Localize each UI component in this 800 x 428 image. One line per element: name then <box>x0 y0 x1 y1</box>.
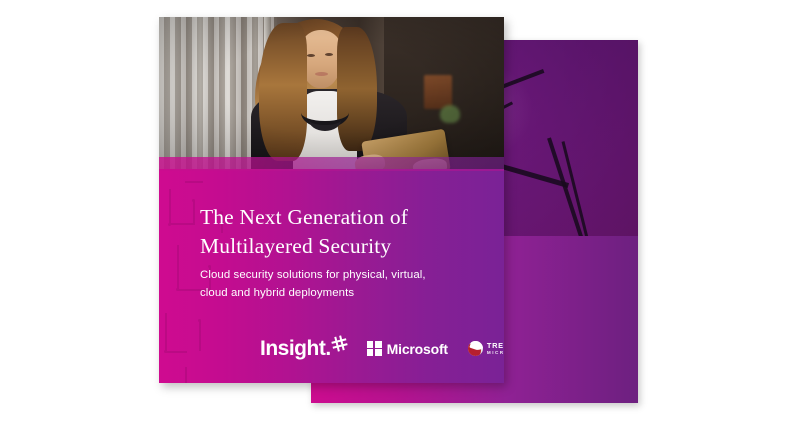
front-cover: The Next Generation of Multilayered Secu… <box>159 17 504 383</box>
trend-micro-line1: TREND <box>487 342 504 349</box>
trend-micro-wordmark: TREND MICRO <box>487 342 504 356</box>
trend-micro-logo: TREND MICRO <box>468 341 504 356</box>
cover-title-line2: Multilayered Security <box>200 234 391 258</box>
insight-hash-icon <box>330 334 348 352</box>
insight-logo-wordmark: Insight. <box>260 338 331 359</box>
insight-logo: Insight. <box>260 338 347 359</box>
microsoft-logo-wordmark: Microsoft <box>387 342 448 356</box>
trend-micro-swoosh-icon <box>468 341 483 356</box>
cover-title: The Next Generation of Multilayered Secu… <box>200 203 480 260</box>
cover-title-line1: The Next Generation of <box>200 205 408 229</box>
microsoft-squares-icon <box>367 341 382 356</box>
asset-canvas: ving. vulnerabilities will change. How c… <box>0 0 800 428</box>
cover-gradient-panel: The Next Generation of Multilayered Secu… <box>159 171 504 383</box>
cover-photo <box>159 17 504 169</box>
logo-row: Insight. Microsoft TREND MICRO <box>260 338 504 359</box>
photo-vignette <box>159 17 504 169</box>
trend-micro-line2: MICRO <box>487 351 504 356</box>
cover-subtitle: Cloud security solutions for physical, v… <box>200 267 462 302</box>
cover-overlay-strip <box>159 157 504 171</box>
cover-subtitle-line1: Cloud security solutions for physical, v… <box>200 269 426 281</box>
cover-subtitle-line2: cloud and hybrid deployments <box>200 287 354 299</box>
microsoft-logo: Microsoft <box>367 341 448 356</box>
